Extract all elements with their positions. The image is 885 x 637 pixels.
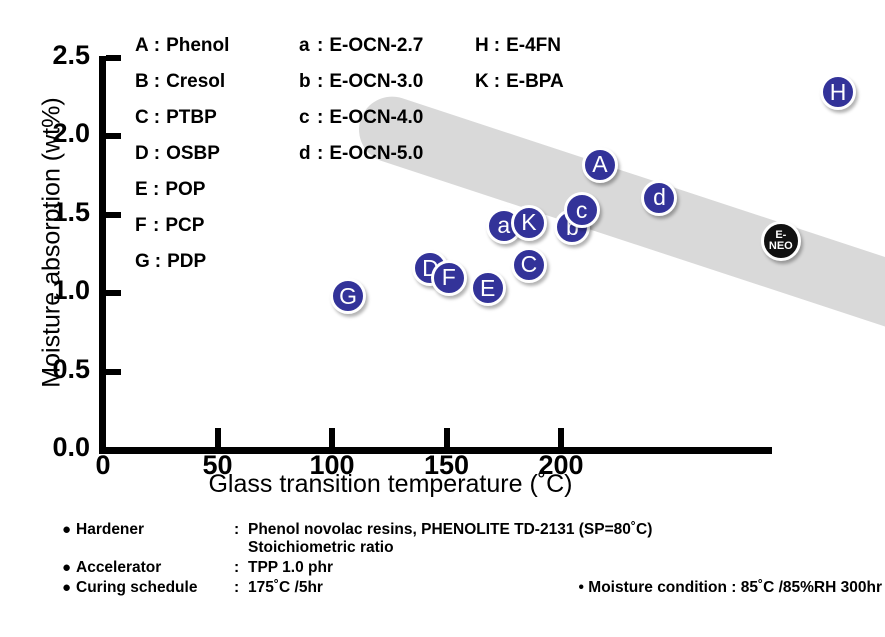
- x-axis-tick: [215, 428, 221, 447]
- legend-item-value: E-OCN-5.0: [329, 143, 423, 165]
- legend-item-separator: :: [317, 143, 323, 165]
- legend-item-key: G: [135, 251, 150, 273]
- legend-item-value: PDP: [167, 251, 206, 273]
- legend-item-key: F: [135, 215, 148, 237]
- legend-item-key: E: [135, 179, 148, 201]
- footnote-curing: ● Curing schedule : 175˚C /5hr • Moistur…: [62, 579, 882, 597]
- footnote-hardener: ● Hardener : Phenol novolac resins, PHEN…: [62, 521, 882, 539]
- bullet-icon: ●: [62, 559, 76, 577]
- footnote-hardener-value: Phenol novolac resins, PHENOLITE TD-2131…: [248, 521, 882, 539]
- legend-item-B: B:Cresol: [135, 64, 229, 100]
- legend-item-D: D:OSBP: [135, 136, 229, 172]
- footnote-curing-colon: :: [234, 579, 248, 597]
- legend-item-value: E-BPA: [506, 71, 564, 93]
- legend-item-value: Phenol: [166, 35, 229, 57]
- data-point-d[interactable]: d: [641, 180, 677, 216]
- footnote-hardener-colon: :: [234, 521, 248, 539]
- x-axis-tick: [444, 428, 450, 447]
- legend-item-a: a:E-OCN-2.7: [299, 28, 423, 64]
- legend-item-separator: :: [154, 35, 160, 57]
- y-axis-tick: [106, 290, 121, 296]
- data-point-A[interactable]: A: [582, 147, 618, 183]
- legend-item-value: PCP: [165, 215, 204, 237]
- data-point-E[interactable]: E: [470, 270, 506, 306]
- trend-band: [350, 88, 885, 351]
- legend-item-separator: :: [154, 143, 160, 165]
- legend-item-c: c:E-OCN-4.0: [299, 100, 423, 136]
- y-axis-tick: [106, 212, 121, 218]
- legend-item-separator: :: [155, 251, 161, 273]
- footnote-curing-value: 175˚C /5hr: [248, 579, 519, 597]
- legend-item-value: OSBP: [166, 143, 220, 165]
- legend-item-separator: :: [317, 71, 323, 93]
- legend-item-value: E-4FN: [506, 35, 561, 57]
- legend-item-key: a: [299, 35, 312, 57]
- inline-bullet-icon: •: [579, 579, 584, 596]
- legend-item-separator: :: [494, 35, 500, 57]
- legend-item-key: H: [475, 35, 489, 57]
- legend-item-value: E-OCN-3.0: [329, 71, 423, 93]
- marker-label-line: NEO: [769, 241, 793, 252]
- legend-item-b: b:E-OCN-3.0: [299, 64, 423, 100]
- footnote-hardener-continuation-text: Stoichiometric ratio: [248, 539, 394, 557]
- legend-item-value: E-OCN-4.0: [329, 107, 423, 129]
- legend-item-key: C: [135, 107, 149, 129]
- legend-item-d: d:E-OCN-5.0: [299, 136, 423, 172]
- legend-item-H: H:E-4FN: [475, 28, 564, 64]
- footnote-accelerator-value: TPP 1.0 phr: [248, 559, 882, 577]
- legend-item-key: D: [135, 143, 149, 165]
- legend-item-key: B: [135, 71, 149, 93]
- footnote-hardener-label: Hardener: [76, 521, 234, 539]
- legend-item-value: POP: [165, 179, 205, 201]
- y-axis-title: Moisture absorption (wt%): [38, 33, 67, 453]
- footnote-accelerator: ● Accelerator : TPP 1.0 phr: [62, 559, 882, 577]
- legend-item-key: d: [299, 143, 312, 165]
- x-axis-title: Glass transition temperature (˚C): [103, 470, 678, 499]
- chart-canvas: 0.00.51.01.52.02.5 050100150200 Moisture…: [0, 0, 885, 637]
- footnote-curing-label: Curing schedule: [76, 579, 234, 597]
- x-axis-tick: [558, 428, 564, 447]
- legend-item-separator: :: [153, 215, 159, 237]
- legend-item-separator: :: [317, 35, 323, 57]
- bullet-icon: ●: [62, 521, 76, 539]
- y-axis-tick: [106, 369, 121, 375]
- legend-item-separator: :: [153, 179, 159, 201]
- legend-item-separator: :: [494, 71, 500, 93]
- legend-item-value: E-OCN-2.7: [329, 35, 423, 57]
- legend-item-key: c: [299, 107, 312, 129]
- legend-item-separator: :: [154, 71, 160, 93]
- legend-column-2: a:E-OCN-2.7b:E-OCN-3.0c:E-OCN-4.0d:E-OCN…: [299, 28, 423, 172]
- legend-item-key: K: [475, 71, 489, 93]
- x-axis-tick: [100, 428, 106, 447]
- data-point-C[interactable]: C: [511, 247, 547, 283]
- legend-item-F: F:PCP: [135, 208, 229, 244]
- legend-item-G: G:PDP: [135, 244, 229, 280]
- legend-item-value: Cresol: [166, 71, 225, 93]
- legend-item-separator: :: [317, 107, 323, 129]
- legend-item-A: A:Phenol: [135, 28, 229, 64]
- y-axis-line: [99, 56, 106, 454]
- legend-item-E: E:POP: [135, 172, 229, 208]
- data-point-c[interactable]: c: [564, 192, 600, 228]
- legend-item-key: b: [299, 71, 312, 93]
- footnote-accelerator-label: Accelerator: [76, 559, 234, 577]
- x-axis-tick: [329, 428, 335, 447]
- legend-item-K: K:E-BPA: [475, 64, 564, 100]
- footnote-moisture-condition: • Moisture condition : 85˚C /85%RH 300hr: [579, 579, 882, 597]
- footnote-hardener-continuation: Stoichiometric ratio: [62, 539, 882, 557]
- data-point-K[interactable]: K: [511, 205, 547, 241]
- footnote-accelerator-colon: :: [234, 559, 248, 577]
- legend-column-1: A:PhenolB:CresolC:PTBPD:OSBPE:POPF:PCPG:…: [135, 28, 229, 280]
- y-axis-tick: [106, 55, 121, 61]
- footnotes: ● Hardener : Phenol novolac resins, PHEN…: [62, 521, 882, 597]
- footnote-moisture-condition-text: Moisture condition : 85˚C /85%RH 300hr: [588, 579, 882, 596]
- legend-item-separator: :: [154, 107, 160, 129]
- legend-item-key: A: [135, 35, 149, 57]
- legend-item-C: C:PTBP: [135, 100, 229, 136]
- legend-item-value: PTBP: [166, 107, 217, 129]
- y-axis-tick: [106, 133, 121, 139]
- legend-column-3: H:E-4FNK:E-BPA: [475, 28, 564, 100]
- bullet-icon: ●: [62, 579, 76, 597]
- data-point-F[interactable]: F: [431, 260, 467, 296]
